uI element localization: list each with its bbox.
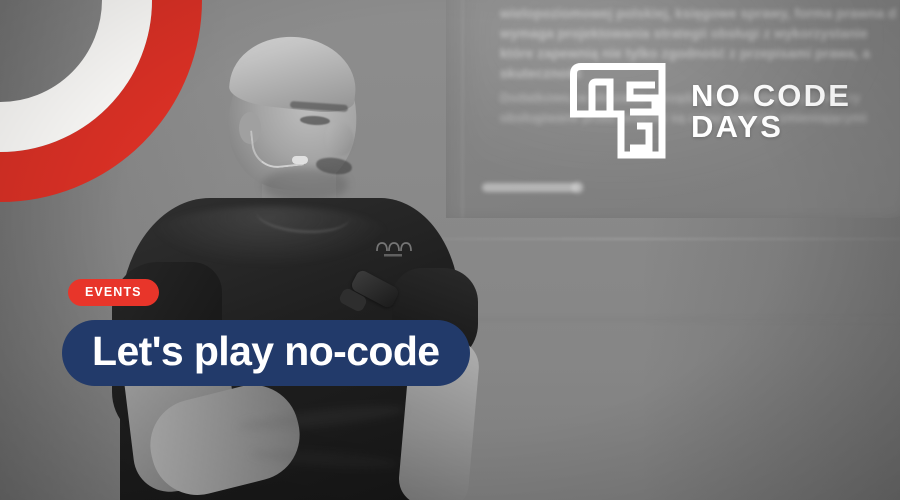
- card-title[interactable]: Let's play no-code: [62, 320, 470, 386]
- headset-microphone-tip-icon: [292, 156, 308, 164]
- shoulder-highlight: [150, 206, 390, 266]
- nose: [326, 122, 354, 156]
- category-badge[interactable]: EVENTS: [68, 279, 159, 306]
- photo-backdrop: wielopoziomowej polskiej, księgowe spraw…: [0, 0, 900, 500]
- chest-logo-icon: [372, 236, 414, 260]
- event-card: wielopoziomowej polskiej, księgowe spraw…: [0, 0, 900, 500]
- speaker-figure: [0, 0, 900, 500]
